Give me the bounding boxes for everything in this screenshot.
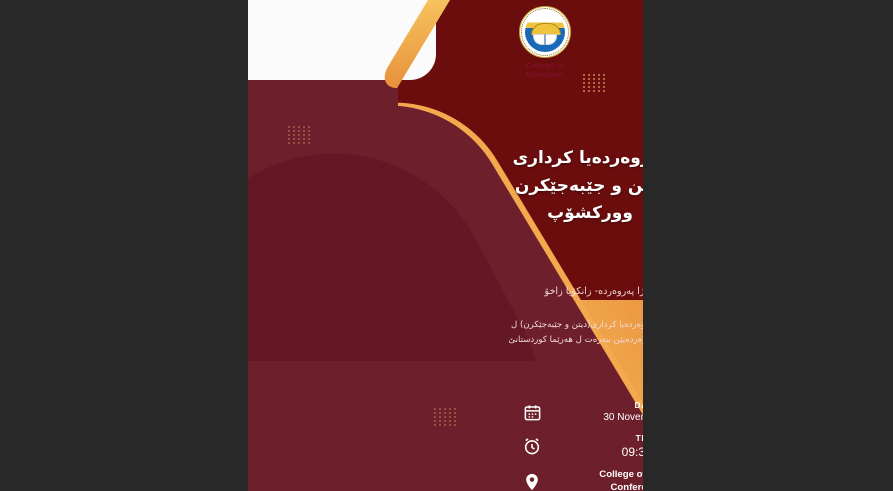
- kurdish-title: پەروەردەیا کرداری دیتن و جێبەجێکرن وورکش…: [500, 145, 643, 228]
- time-value: 09:30 AM: [548, 444, 643, 460]
- location-line-1: College of Education: [548, 469, 643, 482]
- dot-grid-decoration-top-right: [583, 74, 609, 94]
- screenshot-canvas: College of Education KRG Iraq وەزارەتا خ…: [0, 0, 893, 491]
- event-details: DATE 30 November, 2025 TIME 09:30 AM: [516, 400, 643, 491]
- dot-grid-decoration-bottom: [434, 408, 460, 428]
- location-pin-icon: [516, 472, 548, 491]
- date-label: DATE: [548, 400, 643, 411]
- dot-grid-decoration-top-left: [288, 126, 314, 146]
- university-logo: College of Education: [516, 6, 574, 79]
- date-value: 30 November, 2025: [548, 411, 643, 425]
- workshop-poster: College of Education KRG Iraq وەزارەتا خ…: [248, 0, 643, 491]
- kurdish-title-line-2: دیتن و جێبەجێکرن: [500, 173, 643, 201]
- bottom-burgundy-strip: [248, 361, 548, 491]
- detail-row-time: TIME 09:30 AM: [516, 433, 643, 460]
- location-line-2: Conference Hall: [548, 482, 643, 491]
- kurdish-college-line: کۆلیژا پەروەردە- زانکۆیا زاخۆ: [510, 286, 643, 297]
- kurdish-body-text: پێداچوونا پرۆگرامێ پەروەردەیا کرداری(دیت…: [506, 318, 643, 348]
- detail-row-location: College of Education Conference Hall: [516, 469, 643, 491]
- university-logo-caption: College of Education: [516, 61, 574, 79]
- kurdish-title-line-3: وورکشۆپ: [500, 200, 643, 228]
- calendar-icon: [516, 403, 548, 422]
- alarm-clock-icon: [516, 436, 548, 456]
- kurdish-title-line-1: پەروەردەیا کرداری: [500, 145, 643, 173]
- university-of-zakho-seal-icon: [519, 6, 571, 58]
- detail-row-date: DATE 30 November, 2025: [516, 400, 643, 424]
- time-label: TIME: [548, 433, 643, 444]
